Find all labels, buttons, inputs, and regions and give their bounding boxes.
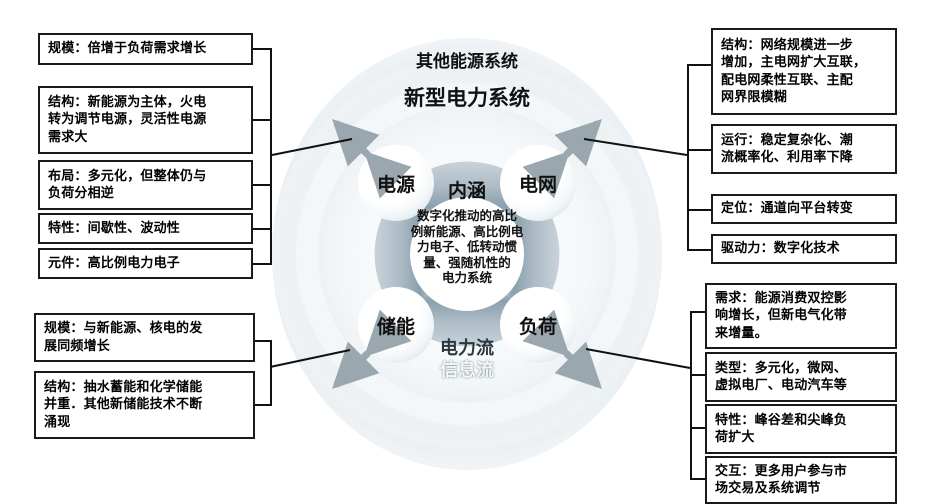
grid-bracket-stub-1 bbox=[687, 149, 711, 151]
source-item-1[interactable]: 结构：新能源为主体，火电 转为调节电源，灵活性电源 需求大 bbox=[38, 86, 253, 154]
storage-item-1[interactable]: 结构：抽水蓄能和化学储能 并重．其他新储能技术不断 涌现 bbox=[34, 371, 255, 439]
storage-bracket-spine bbox=[270, 340, 272, 405]
load-bracket-stub-1 bbox=[690, 374, 705, 376]
grid-bracket-stub-0 bbox=[687, 64, 711, 66]
source-item-4[interactable]: 元件：高比例电力电子 bbox=[38, 248, 253, 279]
load-item-3[interactable]: 交互：更多用户参与市 场交易及系统调节 bbox=[705, 456, 897, 504]
load-item-0[interactable]: 需求：能源消费双控影 响增长，但新电气化带 来增量。 bbox=[705, 283, 897, 349]
grid-item-2[interactable]: 定位：通道向平台转变 bbox=[711, 194, 897, 224]
grid-bracket-spine bbox=[687, 64, 689, 251]
load-bracket-spine bbox=[690, 311, 692, 480]
source-item-0[interactable]: 规模：倍增于负荷需求增长 bbox=[38, 33, 253, 65]
source-bracket-spine bbox=[270, 48, 272, 265]
diagram-title: 新型电力系统 bbox=[367, 82, 567, 112]
load-item-1[interactable]: 类型：多元化，微网、 虚拟电厂、电动汽车等 bbox=[705, 352, 897, 402]
grid-item-3[interactable]: 驱动力：数字化技术 bbox=[711, 234, 897, 264]
core-body: 数字化推动的高比 例新能源、高比例电 力电子、低转动惯 量、强随机性的 电力系统 bbox=[384, 208, 550, 286]
load-bracket-stub-0 bbox=[690, 311, 705, 313]
diagram-supertitle: 其他能源系统 bbox=[367, 47, 567, 72]
grid-bracket-stub-3 bbox=[687, 249, 711, 251]
diagram-canvas: 其他能源系统 新型电力系统 电源 电网 储能 负荷 内涵 数字化推动的高比 例新… bbox=[0, 0, 929, 504]
load-bracket-stub-2 bbox=[690, 427, 705, 429]
storage-item-0[interactable]: 规模：与新能源、核电的发 展同频增长 bbox=[34, 313, 255, 362]
load-bracket-stub-3 bbox=[690, 478, 705, 480]
core-flow-line-2: 信息流 bbox=[417, 356, 517, 382]
grid-bracket-stub-2 bbox=[687, 209, 711, 211]
core-heading: 内涵 bbox=[417, 176, 517, 203]
grid-item-0[interactable]: 结构：网络规模进一步 增加，主电网扩大互联， 配电网柔性互联、主配 网界限模糊 bbox=[711, 28, 897, 115]
grid-item-1[interactable]: 运行：稳定复杂化、潮 流概率化、利用率下降 bbox=[711, 124, 897, 174]
source-item-3[interactable]: 特性：间歇性、波动性 bbox=[38, 213, 253, 244]
source-item-2[interactable]: 布局：多元化，但整体仍与 负荷分相逆 bbox=[38, 160, 253, 210]
load-item-2[interactable]: 特性：峰谷差和尖峰负 荷扩大 bbox=[705, 404, 897, 454]
